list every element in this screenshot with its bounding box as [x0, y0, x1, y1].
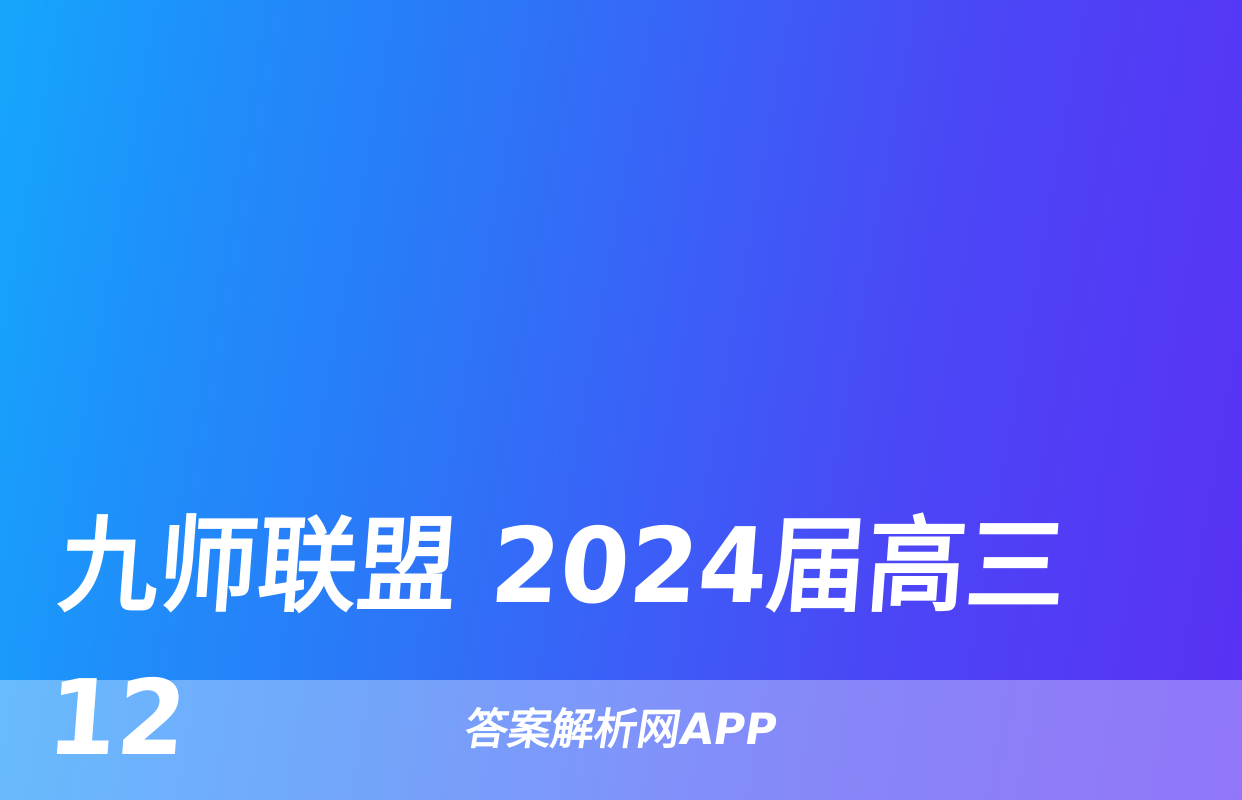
- watermark-label: 答案解析网APP: [0, 704, 1242, 756]
- poster-canvas: 九师联盟 2024届高三12 月质量检测巩固卷化学X G答案 答案解析网APP: [0, 0, 1242, 800]
- page-title-line-1: 九师联盟 2024届高三12: [54, 490, 1091, 642]
